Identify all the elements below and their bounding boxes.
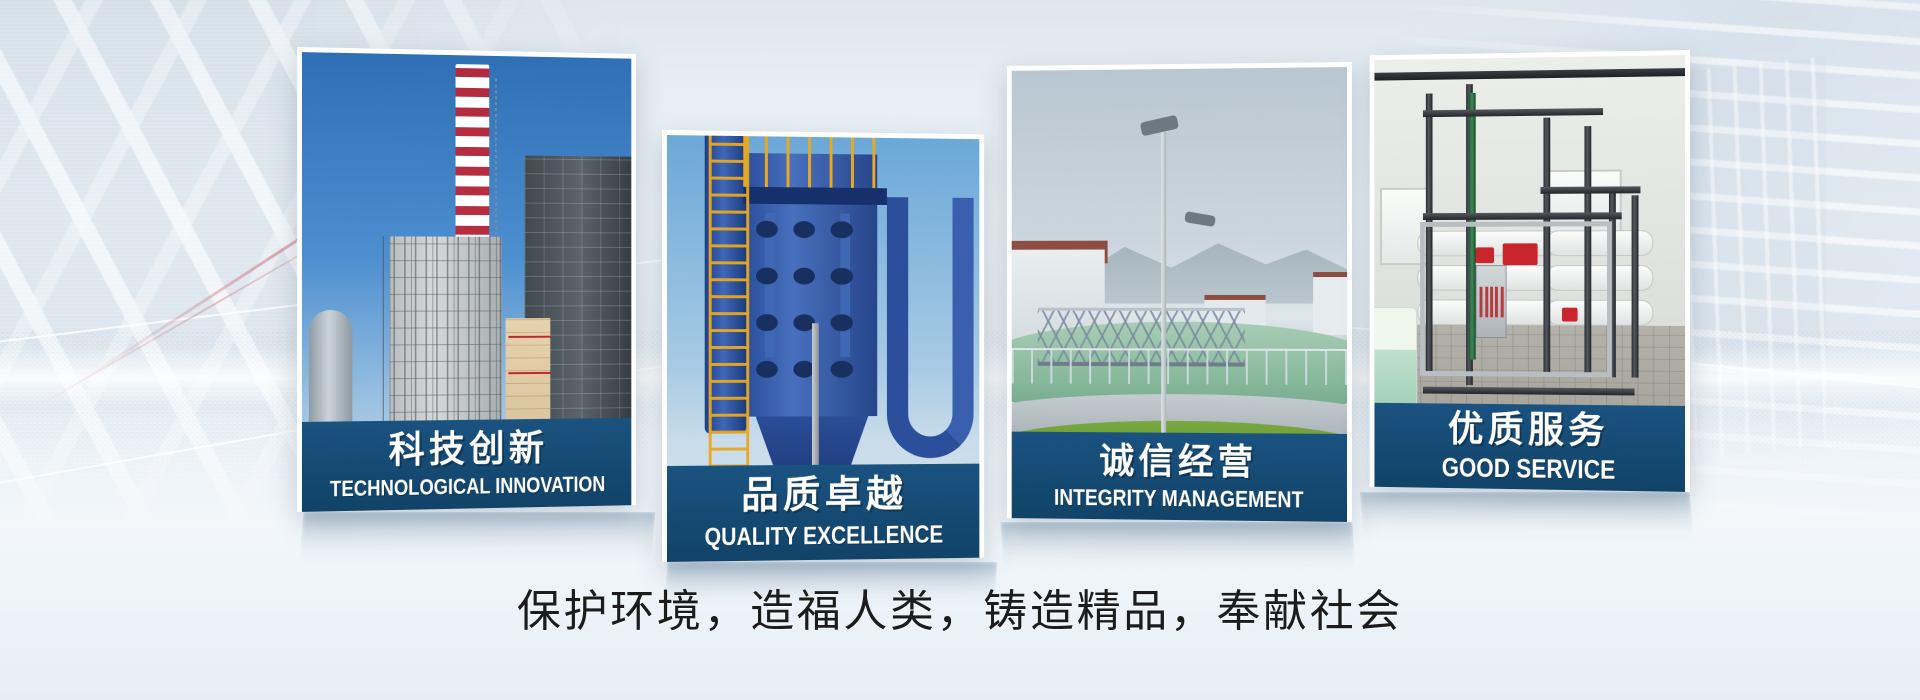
panel-technological-innovation[interactable]: 科技创新 TECHNOLOGICAL INNOVATION bbox=[297, 47, 636, 512]
banner-tagline: 保护环境，造福人类，铸造精品，奉献社会 bbox=[0, 588, 1920, 636]
caption-title-en: QUALITY EXCELLENCE bbox=[704, 522, 943, 550]
panel-good-service[interactable]: 优质服务 GOOD SERVICE bbox=[1370, 50, 1690, 492]
banner-stage: 科技创新 TECHNOLOGICAL INNOVATION bbox=[0, 0, 1920, 700]
caption-integrity-management: 诚信经营 INTEGRITY MANAGEMENT bbox=[1012, 432, 1347, 522]
caption-title-cn: 诚信经营 bbox=[1099, 443, 1257, 480]
caption-title-en: INTEGRITY MANAGEMENT bbox=[1054, 486, 1304, 511]
panel-reflection bbox=[1360, 492, 1696, 566]
caption-good-service: 优质服务 GOOD SERVICE bbox=[1374, 403, 1685, 492]
panel-quality-excellence[interactable]: 品质卓越 QUALITY EXCELLENCE bbox=[662, 130, 984, 562]
panel-reflection bbox=[297, 512, 656, 592]
panel-integrity-management[interactable]: 诚信经营 INTEGRITY MANAGEMENT bbox=[1007, 62, 1352, 522]
caption-title-cn: 优质服务 bbox=[1448, 410, 1609, 448]
caption-title-cn: 科技创新 bbox=[389, 430, 549, 469]
caption-quality-excellence: 品质卓越 QUALITY EXCELLENCE bbox=[667, 464, 979, 562]
caption-technological-innovation: 科技创新 TECHNOLOGICAL INNOVATION bbox=[302, 418, 631, 512]
caption-title-en: GOOD SERVICE bbox=[1442, 455, 1616, 484]
caption-title-en: TECHNOLOGICAL INNOVATION bbox=[330, 474, 605, 501]
caption-title-cn: 品质卓越 bbox=[741, 475, 907, 514]
